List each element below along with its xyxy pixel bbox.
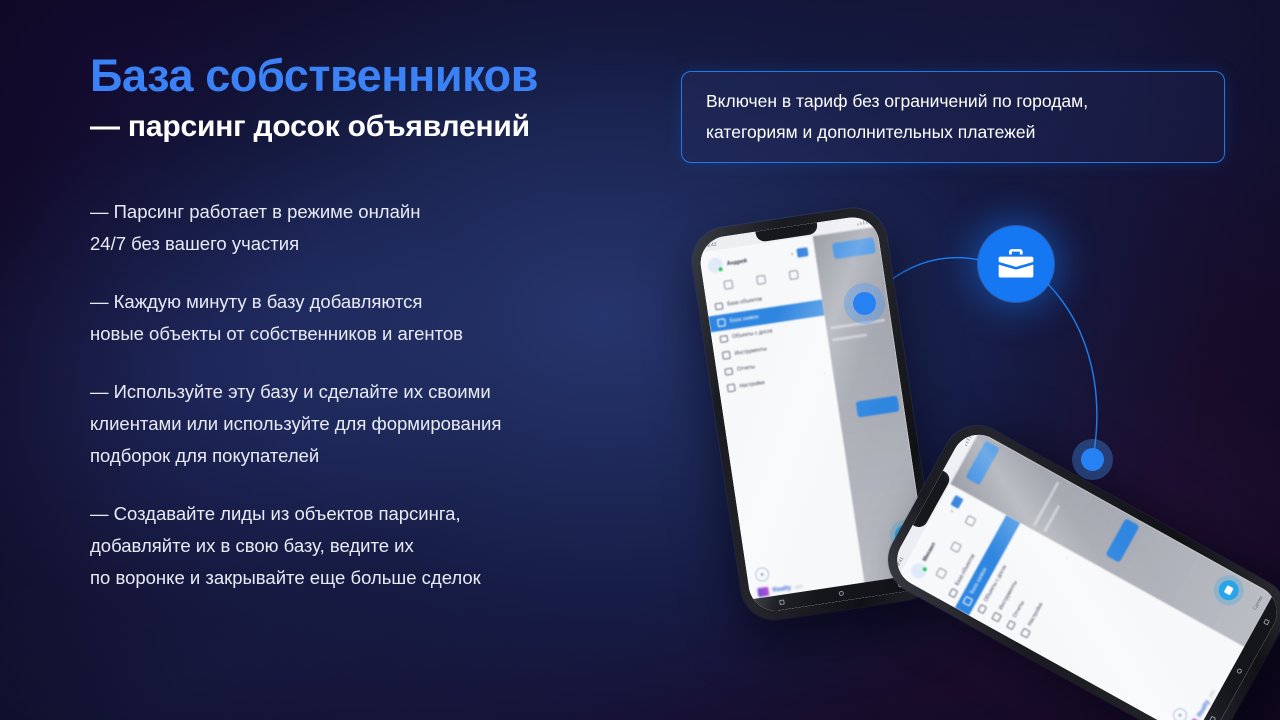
placeholder-line: [1033, 481, 1060, 526]
status-chip: [965, 441, 999, 485]
status-chip: [856, 396, 900, 418]
menu-icon[interactable]: [950, 495, 963, 509]
paragraph-line: новые объекты от собственников и агентов: [90, 318, 660, 350]
logo-subtitle: crm: [795, 584, 803, 590]
menu-item-label: Настройки: [739, 380, 765, 390]
paragraph-line: — Каждую минуту в базу добавляются: [90, 286, 660, 318]
home-icon[interactable]: [1236, 667, 1243, 674]
page-title: База собственников: [90, 52, 660, 101]
connector-endpoint-dot: [1081, 448, 1104, 471]
badge-line: категориям и дополнительных платежей: [706, 117, 1088, 148]
slide-root: База собственников — парсинг досок объяв…: [0, 0, 1280, 720]
gear-icon: [1020, 628, 1030, 638]
paragraph-line: клиентами или используйте для формирован…: [90, 408, 660, 440]
back-icon[interactable]: [779, 600, 785, 606]
page-subtitle: — парсинг досок объявлений: [90, 110, 660, 144]
feature-paragraph: — Каждую минуту в базу добавляются новые…: [90, 286, 660, 350]
logo-mark-icon: [757, 587, 769, 598]
report-icon: [724, 367, 733, 376]
chat-icon[interactable]: [756, 275, 766, 285]
signal-icon: [856, 219, 867, 225]
text-column: База собственников — парсинг досок объяв…: [90, 52, 660, 594]
status-time: 9:42: [706, 241, 717, 248]
tab-label: Сделки: [1252, 595, 1264, 611]
status-chip: [1105, 518, 1139, 562]
status-chip: [832, 237, 876, 259]
tools-icon: [991, 612, 1001, 622]
menu-item-label: База объектов: [727, 297, 763, 308]
recents-icon[interactable]: [1263, 619, 1270, 626]
board-icon: [719, 335, 728, 344]
connector-endpoint-dot: [853, 292, 876, 315]
paragraph-line: добавляйте их в свою базу, ведите их: [90, 530, 660, 562]
feature-paragraph: — Парсинг работает в режиме онлайн 24/7 …: [90, 196, 660, 260]
paragraph-line: — Создавайте лиды из объектов парсинга,: [90, 498, 660, 530]
person-icon: [962, 596, 972, 606]
feature-paragraph-list: — Парсинг работает в режиме онлайн 24/7 …: [90, 196, 660, 594]
avatar: [908, 561, 928, 581]
menu-item-label: Отчеты: [737, 365, 756, 374]
connector-line-right: [1048, 284, 1097, 458]
chevron-right-icon: ›: [823, 371, 825, 376]
tariff-badge: Включен в тариф без ограничений по город…: [681, 71, 1225, 163]
placeholder-line: [1043, 505, 1060, 532]
menu-item-label: База заявок: [729, 314, 758, 324]
tools-icon: [722, 351, 731, 360]
status-time: 9:41: [895, 556, 905, 567]
menu-item-label: Инструменты: [734, 346, 767, 357]
menu-icon[interactable]: [797, 247, 809, 258]
target-icon: [754, 566, 770, 582]
building-icon: [948, 588, 958, 598]
logo-subtitle: crm: [1208, 689, 1216, 698]
person-icon: [717, 318, 726, 327]
phones-illustration: 9:42 Андрей ▾: [660, 180, 1280, 720]
avatar: [707, 257, 724, 274]
target-icon: [1170, 706, 1189, 720]
paragraph-line: по воронке и закрывайте еще больше сдело…: [90, 562, 660, 594]
badge-line: Включен в тариф без ограничений по город…: [706, 86, 1088, 117]
chevron-right-icon: ›: [1064, 556, 1069, 560]
chat-icon[interactable]: [950, 541, 962, 553]
feature-paragraph: — Используйте эту базу и сделайте их сво…: [90, 376, 660, 472]
briefcase-icon: [996, 244, 1036, 284]
signal-icon: [962, 435, 971, 447]
gear-icon: [727, 383, 736, 392]
menu-item-label: Объекты с досок: [732, 329, 773, 341]
feature-hub-badge: [978, 226, 1054, 302]
paragraph-line: 24/7 без вашего участия: [90, 228, 660, 260]
chevron-down-icon[interactable]: ▾: [949, 509, 955, 514]
back-icon[interactable]: [1209, 716, 1216, 720]
placeholder-line: [832, 333, 867, 341]
account-name: Андрей: [726, 252, 787, 267]
bell-icon[interactable]: [789, 270, 799, 280]
home-icon[interactable]: [838, 591, 844, 597]
logo-word: Realty: [772, 584, 791, 594]
paragraph-line: — Используйте эту базу и сделайте их сво…: [90, 376, 660, 408]
phone-icon[interactable]: [935, 568, 947, 580]
building-icon: [714, 302, 723, 311]
bell-icon[interactable]: [964, 515, 976, 527]
feature-paragraph: — Создавайте лиды из объектов парсинга, …: [90, 498, 660, 594]
report-icon: [1006, 620, 1016, 630]
tariff-badge-text: Включен в тариф без ограничений по город…: [706, 86, 1088, 148]
phone-icon[interactable]: [723, 280, 733, 290]
paragraph-line: — Парсинг работает в режиме онлайн: [90, 196, 660, 228]
chevron-down-icon[interactable]: ▾: [791, 251, 794, 257]
board-icon: [977, 604, 987, 614]
paragraph-line: подборок для покупателей: [90, 440, 660, 472]
